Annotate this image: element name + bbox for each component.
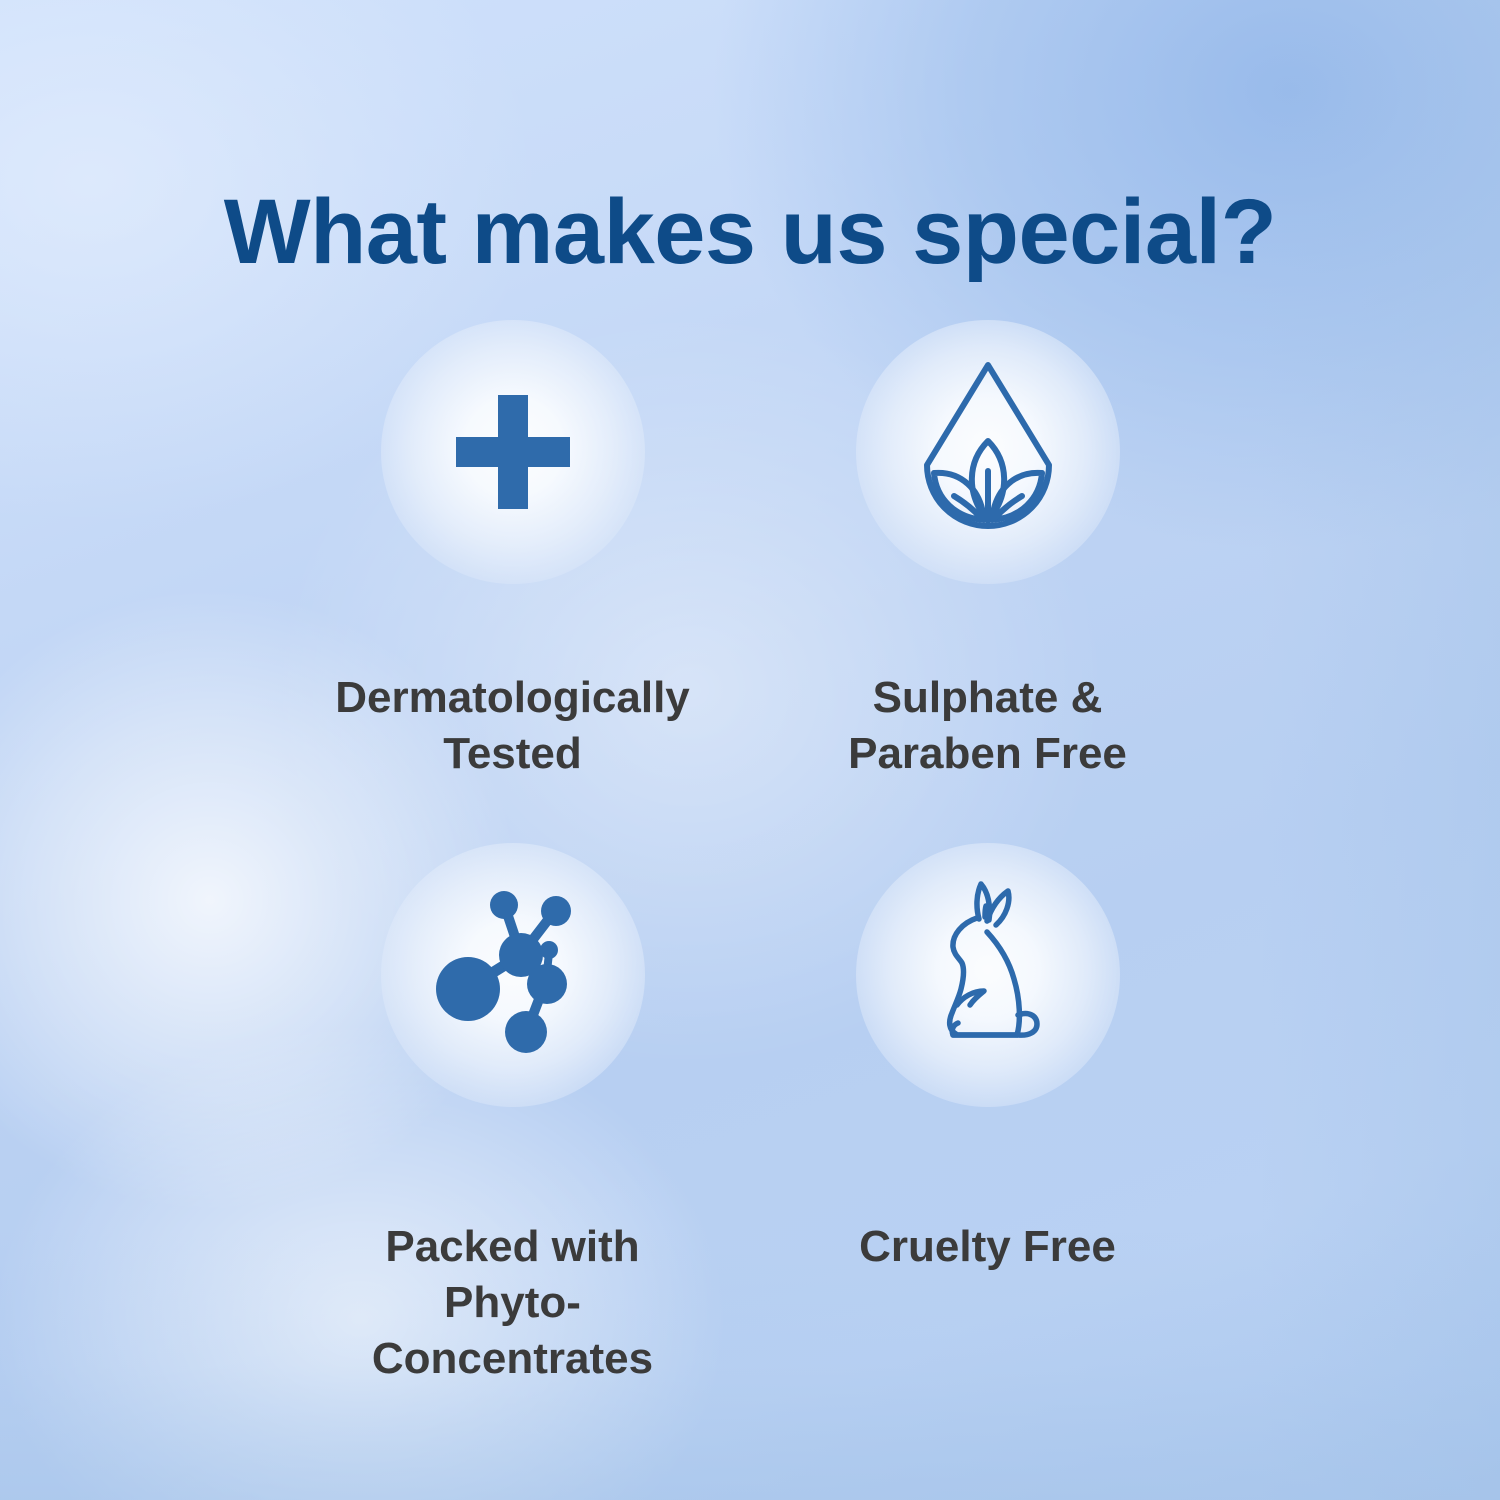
molecule-icon xyxy=(423,885,603,1065)
feature-icon-badge xyxy=(856,843,1120,1107)
poster-canvas: What makes us special? Dermatologically … xyxy=(0,0,1500,1500)
feature-grid: Dermatologically Tested xyxy=(0,320,1500,1388)
feature-packed-with-phyto-concentrates: Packed with Phyto-Concentrates xyxy=(318,843,708,1388)
feature-dermatologically-tested: Dermatologically Tested xyxy=(318,320,708,783)
feature-sulphate-paraben-free: Sulphate & Paraben Free xyxy=(793,320,1183,783)
feature-icon-badge xyxy=(381,320,645,584)
feature-icon-badge xyxy=(381,843,645,1107)
feature-caption-text: Packed with Phyto-Concentrates xyxy=(372,1222,653,1384)
medical-cross-icon xyxy=(448,387,578,517)
feature-row-1: Dermatologically Tested xyxy=(0,320,1500,783)
feature-icon-badge xyxy=(856,320,1120,584)
feature-caption: Packed with Phyto-Concentrates xyxy=(318,1219,708,1388)
water-drop-leaf-icon xyxy=(908,357,1068,547)
feature-caption: Dermatologically Tested xyxy=(335,670,690,783)
feature-caption-text: Cruelty Free xyxy=(859,1222,1116,1271)
feature-row-2: Packed with Phyto-Concentrates xyxy=(0,843,1500,1388)
rabbit-icon xyxy=(913,875,1063,1075)
feature-cruelty-free: Cruelty Free xyxy=(793,843,1183,1275)
page-title: What makes us special? xyxy=(0,186,1500,278)
feature-caption: Cruelty Free xyxy=(859,1219,1116,1275)
feature-caption: Sulphate & Paraben Free xyxy=(848,670,1127,783)
feature-caption-text: Sulphate & Paraben Free xyxy=(848,673,1127,778)
feature-caption-text: Dermatologically Tested xyxy=(335,673,690,778)
